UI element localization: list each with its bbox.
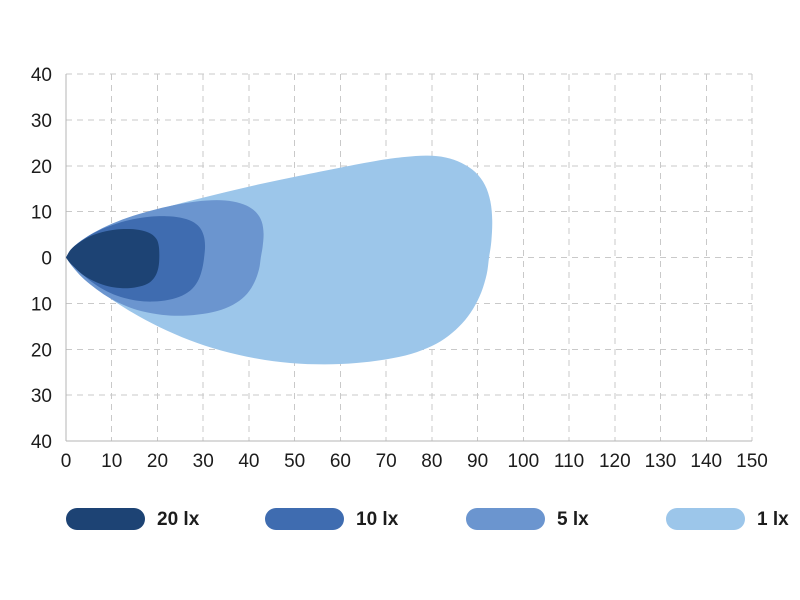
x-axis-tick-labels: 0102030405060708090100110120130140150 — [61, 451, 768, 472]
legend-label: 1 lx — [757, 509, 789, 530]
legend-item[interactable]: 5 lx — [466, 508, 589, 530]
y-tick-label: 30 — [31, 386, 52, 407]
legend-item[interactable]: 1 lx — [666, 508, 789, 530]
y-tick-label: 40 — [31, 65, 52, 86]
x-tick-label: 130 — [645, 451, 677, 472]
y-tick-label: 20 — [31, 157, 52, 178]
legend-label: 10 lx — [356, 509, 399, 530]
beam-areas-layer — [66, 156, 492, 365]
x-tick-label: 10 — [101, 451, 122, 472]
legend-item[interactable]: 10 lx — [265, 508, 399, 530]
y-tick-label: 10 — [31, 203, 52, 224]
legend-item[interactable]: 20 lx — [66, 508, 200, 530]
x-tick-label: 150 — [736, 451, 768, 472]
x-tick-label: 70 — [376, 451, 397, 472]
x-tick-label: 120 — [599, 451, 631, 472]
x-tick-label: 140 — [690, 451, 722, 472]
legend-swatch — [466, 508, 545, 530]
x-tick-label: 110 — [554, 451, 584, 472]
x-tick-label: 60 — [330, 451, 351, 472]
beam-pattern-chart: 40302010010203040 0102030405060708090100… — [0, 0, 800, 600]
x-tick-label: 50 — [284, 451, 305, 472]
beam-area-20-lx — [66, 229, 159, 288]
legend-label: 20 lx — [157, 509, 200, 530]
legend-swatch — [666, 508, 745, 530]
y-tick-label: 30 — [31, 111, 52, 132]
x-tick-label: 0 — [61, 451, 72, 472]
y-axis-tick-labels: 40302010010203040 — [31, 65, 52, 453]
x-tick-label: 20 — [147, 451, 168, 472]
y-tick-label: 10 — [31, 294, 52, 315]
chart-canvas: 40302010010203040 0102030405060708090100… — [0, 0, 800, 600]
y-tick-label: 20 — [31, 340, 52, 361]
x-tick-label: 40 — [238, 451, 259, 472]
legend-swatch — [265, 508, 344, 530]
y-tick-label: 0 — [41, 249, 52, 270]
x-tick-label: 80 — [421, 451, 442, 472]
chart-legend: 20 lx10 lx5 lx1 lx — [66, 508, 789, 530]
y-tick-label: 40 — [31, 432, 52, 453]
legend-label: 5 lx — [557, 509, 589, 530]
legend-swatch — [66, 508, 145, 530]
x-tick-label: 30 — [193, 451, 214, 472]
x-tick-label: 90 — [467, 451, 488, 472]
x-tick-label: 100 — [507, 451, 539, 472]
